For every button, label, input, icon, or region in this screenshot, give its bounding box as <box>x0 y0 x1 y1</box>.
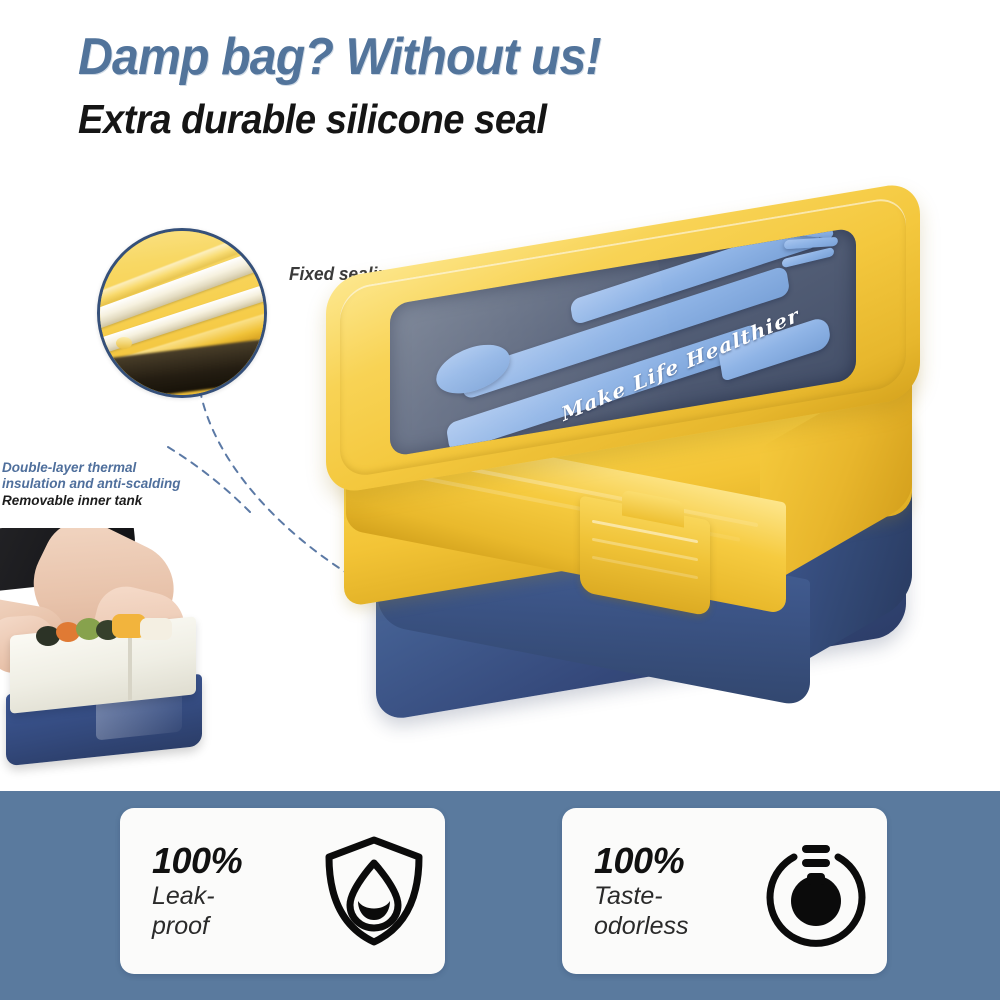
annotation-thermal-insulation: Double-layer thermal insulation and anti… <box>2 460 182 509</box>
photo-removable-inner-tray <box>0 528 250 790</box>
magnified-seal-detail <box>97 228 267 398</box>
page-subheadline: Extra durable silicone seal <box>78 96 547 142</box>
feature-card-leak-proof[interactable]: 100% Leak- proof <box>120 808 445 974</box>
lunchbox-lid: Make Life Healthier <box>326 230 926 456</box>
infographic-canvas: Damp bag? Without us! Extra durable sili… <box>0 0 1000 1000</box>
feature-label-2-line1: Taste- <box>594 881 744 911</box>
feature-card-taste-odorless[interactable]: 100% Taste- odorless <box>562 808 887 974</box>
annotation-thermal-line2: insulation and anti-scalding <box>2 476 182 492</box>
feature-percent-1: 100% <box>152 841 302 881</box>
annotation-removable-tank: Removable inner tank <box>2 492 182 509</box>
annotation-thermal-line1: Double-layer thermal <box>2 460 182 476</box>
food-rice <box>140 618 172 640</box>
feature-percent-2: 100% <box>594 841 744 881</box>
page-headline: Damp bag? Without us! <box>78 29 601 85</box>
feature-label-1-line1: Leak- <box>152 881 302 911</box>
feature-label-1-line2: proof <box>152 911 302 941</box>
shield-droplet-icon <box>302 835 445 947</box>
odorless-bulb-icon <box>744 835 887 947</box>
feature-label-2-line2: odorless <box>594 911 744 941</box>
product-photo-lunchbox: Make Life Healthier <box>316 208 976 728</box>
